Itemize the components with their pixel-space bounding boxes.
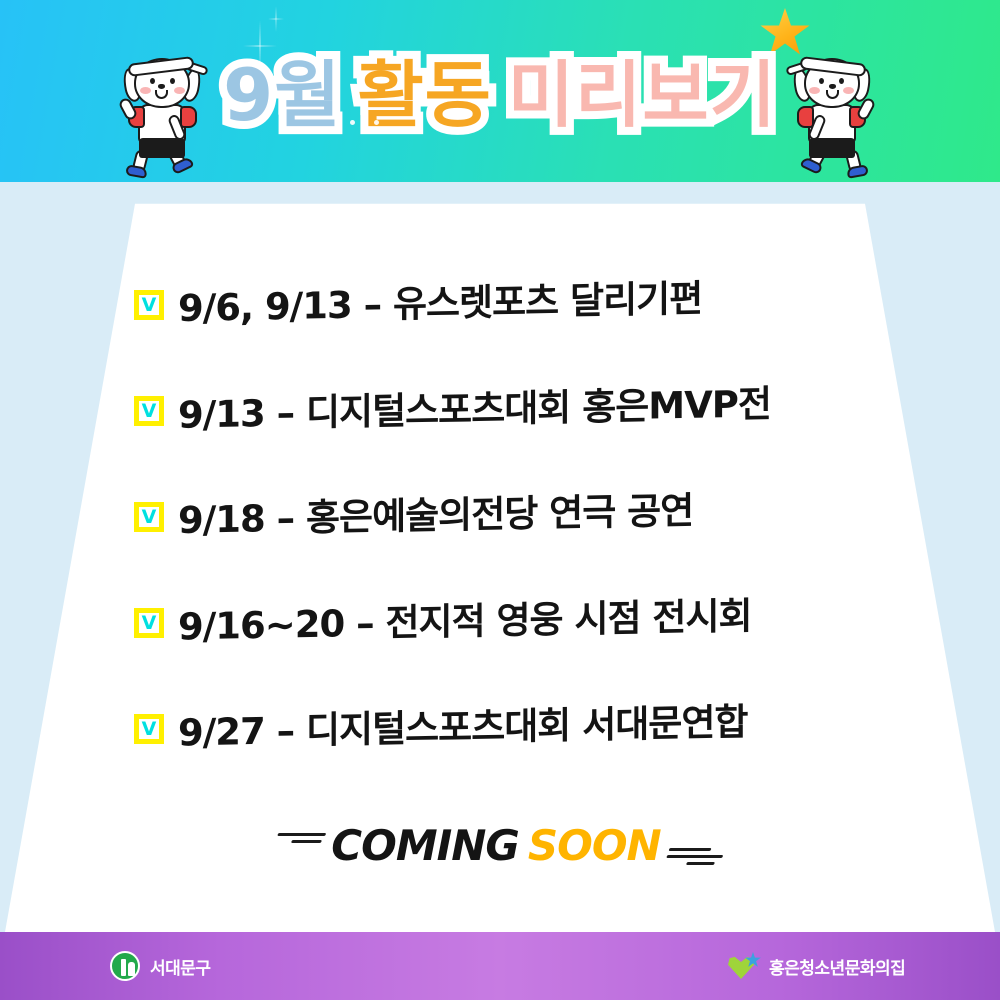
header-banner: 9월 활동 미리보기 — [0, 0, 1000, 182]
mascot-eye-right — [170, 78, 175, 84]
checkbox-checked-icon[interactable]: V — [134, 502, 164, 532]
mascot-sleeve-right — [180, 106, 197, 128]
hongeun-youth-center-logo-icon — [728, 952, 762, 980]
mascot-shorts — [809, 138, 855, 158]
running-dog-mascot-left — [112, 42, 212, 172]
mascot-eye-left — [150, 78, 155, 84]
event-text: 9/13 – 디지털스포츠대회 홍은MVP전 — [178, 385, 771, 433]
mascot-cheek-left — [140, 87, 151, 94]
list-item[interactable]: V 9/16~20 – 전지적 영웅 시점 전시회 — [134, 593, 894, 649]
sparkle-icon-small — [268, 6, 284, 32]
mascot-nose — [829, 84, 836, 89]
footer-brand-hongeun[interactable]: 홍은청소년문화의집 — [728, 952, 905, 980]
event-text: 9/6, 9/13 – 유스렛포츠 달리기편 — [178, 279, 702, 326]
mascot-shorts — [139, 138, 185, 158]
title-word-month: 9월 — [223, 59, 341, 131]
mascot-eye-right — [819, 78, 824, 84]
footer-brand-seodaemun[interactable]: 서대문구 — [110, 951, 211, 981]
checkbox-checked-icon[interactable]: V — [134, 608, 164, 638]
coming-soon-banner: COMING SOON — [0, 812, 1000, 880]
seodaemun-gu-logo-icon — [110, 951, 140, 981]
list-item[interactable]: V 9/13 – 디지털스포츠대회 홍은MVP전 — [134, 381, 894, 437]
mascot-nose — [158, 84, 165, 89]
checkbox-checked-icon[interactable]: V — [134, 396, 164, 426]
footer-label-seodaemun: 서대문구 — [150, 954, 211, 979]
running-dog-mascot-right — [782, 42, 882, 172]
coming-soon-word-coming: COMING — [331, 825, 519, 867]
event-list: V 9/6, 9/13 – 유스렛포츠 달리기편 V 9/13 – 디지털스포츠… — [134, 275, 894, 805]
footer-bar: 서대문구 홍은청소년문화의집 — [0, 932, 1000, 1000]
event-text: 9/16~20 – 전지적 영웅 시점 전시회 — [178, 597, 752, 645]
list-item[interactable]: V 9/27 – 디지털스포츠대회 서대문연합 — [134, 699, 894, 755]
checkbox-checked-icon[interactable]: V — [134, 290, 164, 320]
list-item[interactable]: V 9/18 – 홍은예술의전당 연극 공연 — [134, 487, 894, 543]
title-decorative-dots — [350, 118, 410, 126]
list-item[interactable]: V 9/6, 9/13 – 유스렛포츠 달리기편 — [134, 275, 894, 331]
checkbox-checked-icon[interactable]: V — [134, 714, 164, 744]
speed-lines-left-icon — [275, 833, 326, 843]
footer-label-hongeun: 홍은청소년문화의집 — [769, 954, 905, 979]
event-text: 9/27 – 디지털스포츠대회 서대문연합 — [178, 703, 747, 751]
mascot-cheek-left — [843, 87, 854, 94]
title-word-preview: 미리보기 — [508, 59, 777, 131]
event-text: 9/18 – 홍은예술의전당 연극 공연 — [178, 492, 693, 539]
coming-soon-word-soon: SOON — [528, 825, 661, 867]
mascot-cheek-right — [174, 87, 185, 94]
mascot-eye-left — [839, 78, 844, 84]
speed-lines-right-icon — [664, 848, 726, 865]
mascot-cheek-right — [809, 87, 820, 94]
page-title: 9월 활동 미리보기 — [210, 40, 790, 150]
